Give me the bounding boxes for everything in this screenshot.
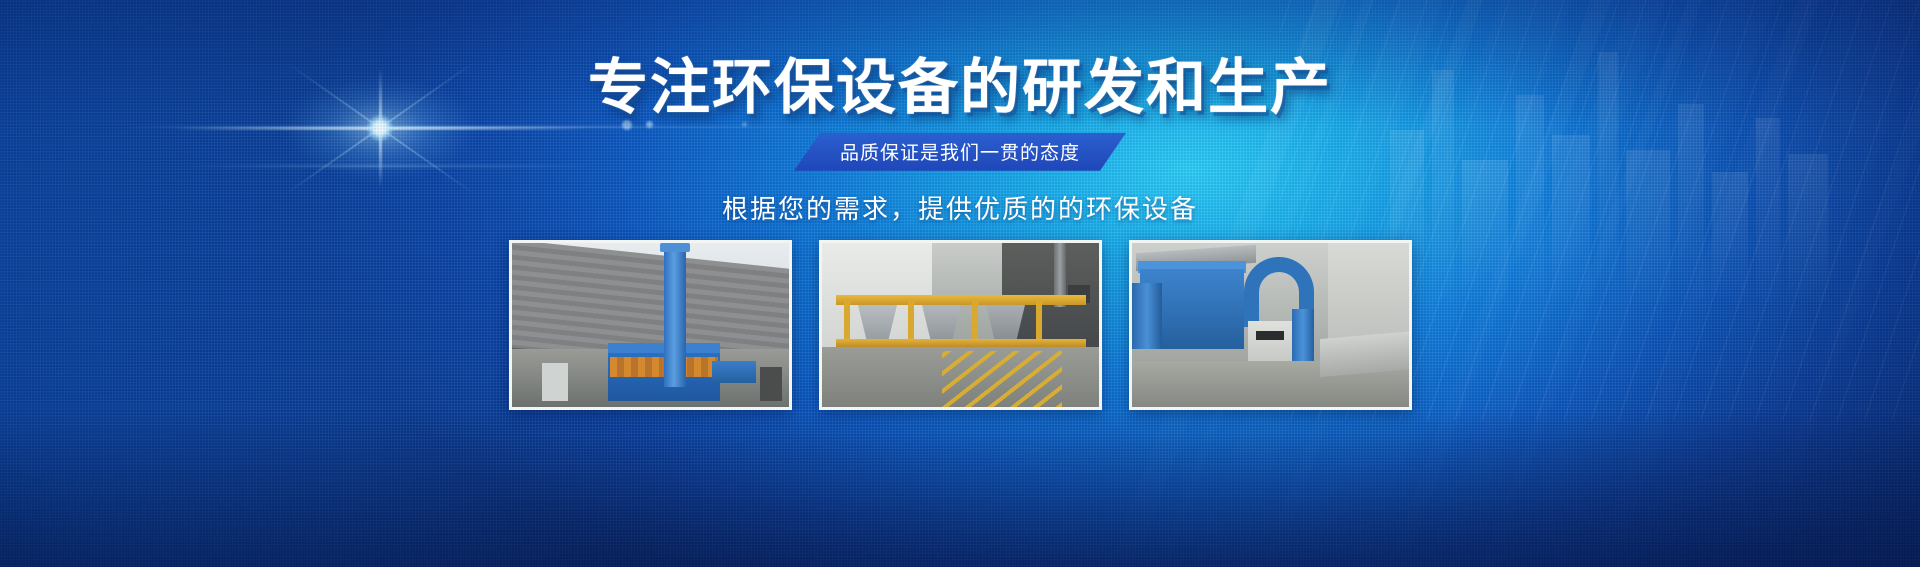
photo-yellow-railing-plant[interactable]	[819, 240, 1102, 410]
banner-tagline: 根据您的需求，提供优质的的环保设备	[0, 189, 1920, 226]
quality-badge: 品质保证是我们一贯的态度	[794, 133, 1126, 171]
photo-warehouse-dust-collector[interactable]	[509, 240, 792, 410]
banner-headline: 专注环保设备的研发和生产	[0, 56, 1920, 121]
banner-badge-row: 品质保证是我们一贯的态度	[0, 133, 1920, 171]
photo-gallery	[0, 240, 1920, 410]
banner-copy: 专注环保设备的研发和生产 品质保证是我们一贯的态度 根据您的需求，提供优质的的环…	[0, 0, 1920, 226]
hero-banner: 专注环保设备的研发和生产 品质保证是我们一贯的态度 根据您的需求，提供优质的的环…	[0, 0, 1920, 567]
photo-blue-cyclone-ducting[interactable]	[1129, 240, 1412, 410]
